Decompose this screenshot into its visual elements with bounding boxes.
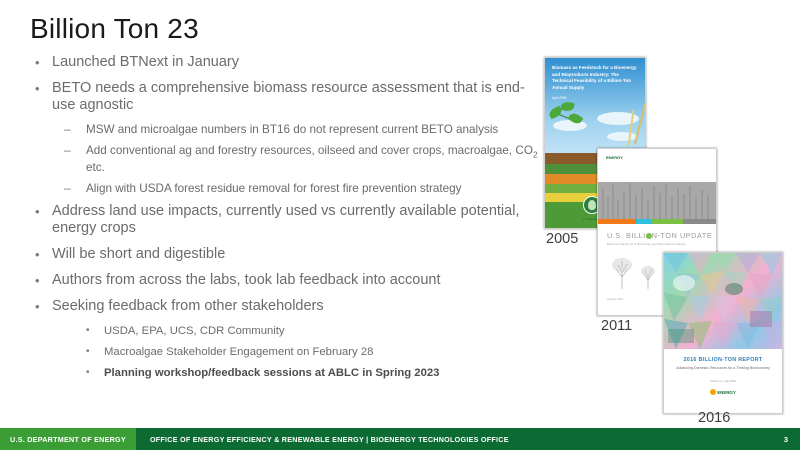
energy-seal-icon <box>710 389 716 395</box>
cloud-shape <box>553 120 587 131</box>
bullet-list-container: •Launched BTNext in January•BETO needs a… <box>30 54 545 387</box>
bullet-marker-icon: – <box>64 181 71 195</box>
slide-footer: U.S. DEPARTMENT OF ENERGY OFFICE OF ENER… <box>0 428 800 450</box>
year-label-2016: 2016 <box>698 410 730 426</box>
year-label-2011: 2011 <box>601 318 632 334</box>
cover-2011-color-bar <box>598 219 716 224</box>
bullet-text-prefix: Add conventional ag and forestry resourc… <box>86 144 533 157</box>
report-cover-2016[interactable]: 2016 BILLION-TON REPORT Advancing Domest… <box>663 252 783 414</box>
bullet-item-level-1: •Address land use impacts, currently use… <box>30 203 545 237</box>
bullet-item-level-1: •Seeking feedback from other stakeholder… <box>30 298 545 315</box>
cover-2011-title-left: U.S. BILLI <box>607 231 646 240</box>
bullet-text-suffix: etc. <box>86 161 105 174</box>
energy-logo-icon: ENERGY <box>606 156 623 160</box>
cover-2005-title: Biomass as Feedstock for a Bioenergy and… <box>552 65 639 91</box>
tree-illustration <box>608 253 668 289</box>
bullet-text: Launched BTNext in January <box>52 54 239 70</box>
bullet-text: MSW and microalgae numbers in BT16 do no… <box>86 123 498 136</box>
bullet-marker-icon: • <box>35 272 40 289</box>
year-label-2005: 2005 <box>546 231 578 247</box>
slide-canvas: Billion Ton 23 •Launched BTNext in Janua… <box>0 0 800 450</box>
bullet-marker-icon: • <box>35 203 40 220</box>
bullet-text: BETO needs a comprehensive biomass resou… <box>52 80 525 113</box>
bullet-marker-icon: • <box>35 298 40 315</box>
mosaic-triangles <box>664 253 782 349</box>
bullet-marker-icon: • <box>35 246 40 263</box>
bullet-item-level-2: –Align with USDA forest residue removal … <box>58 182 545 196</box>
cover-2016-subtitle: Advancing Domestic Resources for a Thriv… <box>676 366 770 371</box>
bullet-item-level-1: •BETO needs a comprehensive biomass reso… <box>30 80 545 114</box>
bullet-text: Macroalgae Stakeholder Engagement on Feb… <box>104 346 373 358</box>
bullet-text: Authors from across the labs, took lab f… <box>52 272 441 288</box>
page-title: Billion Ton 23 <box>30 13 199 45</box>
bullet-item-level-3: •USDA, EPA, UCS, CDR Community <box>78 324 545 338</box>
bullet-text: Will be short and digestible <box>52 246 225 262</box>
bullet-list: •Launched BTNext in January•BETO needs a… <box>30 54 545 380</box>
cover-2016-title: 2016 BILLION-TON REPORT <box>664 357 782 363</box>
cover-2016-artwork <box>664 253 782 349</box>
footer-doe-label: U.S. DEPARTMENT OF ENERGY <box>0 428 136 450</box>
bullet-item-level-1: •Will be short and digestible <box>30 246 545 263</box>
cover-2011-date: August 2011 <box>607 297 624 301</box>
cover-2016-volume: Volume 1 | July 2016 <box>664 379 782 383</box>
cover-2016-energy-logo: ENERGY <box>664 389 782 395</box>
grass-illustration <box>598 177 716 219</box>
cover-2011-title-right: N-TON UPDATE <box>652 231 712 240</box>
subscript: 2 <box>533 149 538 159</box>
cover-2005-date: April 2005 <box>552 96 566 100</box>
bullet-item-level-3: •Planning workshop/feedback sessions at … <box>78 366 545 380</box>
bullet-marker-icon: • <box>86 366 90 380</box>
bullet-item-level-1: •Authors from across the labs, took lab … <box>30 272 545 289</box>
footer-page-number: 3 <box>784 435 800 444</box>
bullet-text: Address land use impacts, currently used… <box>52 203 519 236</box>
cover-2011-subtitle: Biomass Supply for a Bioenergy and Biopr… <box>607 242 708 246</box>
energy-logo-label: ENERGY <box>717 390 736 395</box>
bullet-item-level-2: –MSW and microalgae numbers in BT16 do n… <box>58 123 545 137</box>
cloud-shape <box>607 132 637 141</box>
bullet-marker-icon: • <box>86 345 90 359</box>
bullet-item-level-3: •Macroalgae Stakeholder Engagement on Fe… <box>78 345 545 359</box>
footer-office-label: OFFICE OF ENERGY EFFICIENCY & RENEWABLE … <box>136 435 509 444</box>
bullet-marker-icon: – <box>64 122 71 136</box>
bullet-text: USDA, EPA, UCS, CDR Community <box>104 325 285 337</box>
bullet-marker-icon: • <box>35 80 40 97</box>
bullet-text: Seeking feedback from other stakeholders <box>52 298 324 314</box>
bullet-text: Align with USDA forest residue removal f… <box>86 182 461 195</box>
bullet-item-level-2: –Add conventional ag and forestry resour… <box>58 144 545 175</box>
bullet-text: Planning workshop/feedback sessions at A… <box>104 367 439 379</box>
bullet-text: Add conventional ag and forestry resourc… <box>86 144 538 174</box>
cover-2011-title: U.S. BILLIN-TON UPDATE <box>607 231 712 240</box>
bullet-marker-icon: – <box>64 143 71 157</box>
bullet-item-level-1: •Launched BTNext in January <box>30 54 545 71</box>
bullet-marker-icon: • <box>86 324 90 338</box>
bullet-marker-icon: • <box>35 54 40 71</box>
